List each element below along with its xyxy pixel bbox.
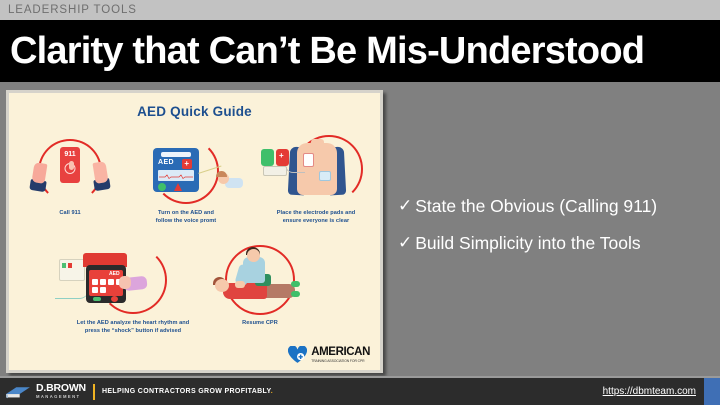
tagline-dot: . — [271, 388, 273, 395]
brand-wordmark: AMERICAN TRAINING ASSOCIATION FOR CPR — [311, 347, 370, 363]
patient-neck — [311, 139, 324, 149]
brand-subtitle: TRAINING ASSOCIATION FOR CPR — [311, 360, 370, 363]
heart-icon — [288, 346, 307, 364]
phone-screen-number: 911 — [64, 151, 75, 158]
patient-shoe-left — [291, 281, 300, 287]
company-subtitle: MANAGEMENT — [36, 395, 86, 399]
step-analyze-rhythm-art: AED — [53, 243, 213, 317]
bullet-label: Build Simplicity into the Tools — [415, 233, 640, 254]
step-caption: Let the AED analyze the heart rhythm and… — [53, 319, 213, 335]
bullet-item-1: ✓ State the Obvious (Calling 911) — [398, 196, 710, 217]
footer-tagline: HELPING CONTRACTORS GROW PROFITABLY. — [102, 388, 273, 395]
aed-key-6 — [100, 287, 106, 293]
case-green-dot-icon — [62, 263, 66, 268]
aed-warning-triangle-icon — [174, 183, 182, 191]
aed-key-1 — [92, 279, 98, 285]
aed-device-label: AED — [158, 159, 174, 166]
step-resume-cpr-art — [205, 243, 315, 317]
aed-device-label: AED — [109, 271, 120, 277]
bullet-label: State the Obvious (Calling 911) — [415, 196, 657, 217]
aed-key-5 — [92, 287, 98, 293]
check-icon: ✓ — [398, 233, 412, 253]
american-cpr-logo: AMERICAN TRAINING ASSOCIATION FOR CPR — [288, 346, 370, 364]
company-name: D.BROWN — [36, 383, 86, 394]
rescuer-hand-icon — [119, 276, 131, 289]
aed-green-button-icon — [158, 183, 166, 191]
step-call-911: 911 Call 911 — [17, 135, 123, 217]
bullet-list: ✓ State the Obvious (Calling 911) ✓ Buil… — [398, 196, 710, 270]
eyebrow-label: LEADERSHIP TOOLS — [0, 4, 137, 16]
patient-legs — [263, 284, 295, 298]
footer-url-link[interactable]: https://dbmteam.com — [603, 386, 696, 397]
aed-shock-button-icon — [111, 296, 118, 302]
tagline-text: HELPING CONTRACTORS GROW PROFITABLY — [102, 388, 271, 395]
step-caption: Turn on the AED and follow the voice pro… — [127, 209, 245, 225]
step-turn-on-aed-art: AED — [127, 135, 245, 207]
step-caption: Resume CPR — [205, 319, 315, 327]
step-place-pads-art: + — [253, 131, 379, 207]
slide-canvas: LEADERSHIP TOOLS Clarity that Can’t Be M… — [0, 0, 720, 405]
eyebrow-strip: LEADERSHIP TOOLS — [0, 0, 720, 20]
check-icon: ✓ — [398, 196, 412, 216]
victim-hair — [216, 171, 227, 177]
footer-accent-block — [704, 378, 720, 405]
pad-package — [263, 166, 287, 176]
pad-plus-icon: + — [279, 151, 284, 160]
rescuer-head — [247, 249, 260, 262]
patient-shoe-right — [291, 291, 300, 297]
pad-green-icon — [261, 149, 274, 166]
dbrown-logo-icon — [5, 383, 31, 400]
ecg-trace-icon — [159, 174, 193, 179]
title-band: Clarity that Can’t Be Mis-Understood — [0, 20, 720, 82]
hand-right-icon — [92, 161, 108, 184]
case-red-dot-icon — [68, 263, 72, 268]
step-call-911-art: 911 — [17, 135, 123, 207]
page-title: Clarity that Can’t Be Mis-Understood — [0, 30, 644, 73]
patient-head — [215, 279, 229, 292]
infographic-heading: AED Quick Guide — [9, 104, 380, 119]
aed-power-button-icon — [93, 297, 101, 301]
aed-red-indicator-icon — [182, 159, 192, 169]
step-analyze-rhythm: AED Let the AED analyze the heart rhythm… — [53, 243, 213, 335]
aed-infographic-panel: AED Quick Guide 911 Call 911 AE — [6, 90, 383, 373]
aed-handle — [161, 152, 191, 157]
dbrown-wordmark: D.BROWN MANAGEMENT — [36, 383, 86, 399]
bullet-item-2: ✓ Build Simplicity into the Tools — [398, 233, 710, 254]
electrode-pad-lower-icon — [319, 171, 331, 181]
step-caption: Place the electrode pads and ensure ever… — [253, 209, 379, 225]
rescuer-hands-icon — [235, 281, 245, 288]
step-turn-on-aed: AED Turn on the AED and follow the voice… — [127, 135, 245, 225]
step-place-pads: + Place the electrode pads and ensure ev… — [253, 131, 379, 225]
finger-icon — [69, 161, 74, 170]
footer-bar: D.BROWN MANAGEMENT HELPING CONTRACTORS G… — [0, 378, 720, 405]
aed-key-2 — [100, 279, 106, 285]
step-resume-cpr: Resume CPR — [205, 243, 315, 327]
logo-divider — [93, 384, 95, 400]
step-caption: Call 911 — [17, 209, 123, 217]
aed-key-3 — [108, 279, 114, 285]
brand-name: AMERICAN — [311, 347, 370, 359]
